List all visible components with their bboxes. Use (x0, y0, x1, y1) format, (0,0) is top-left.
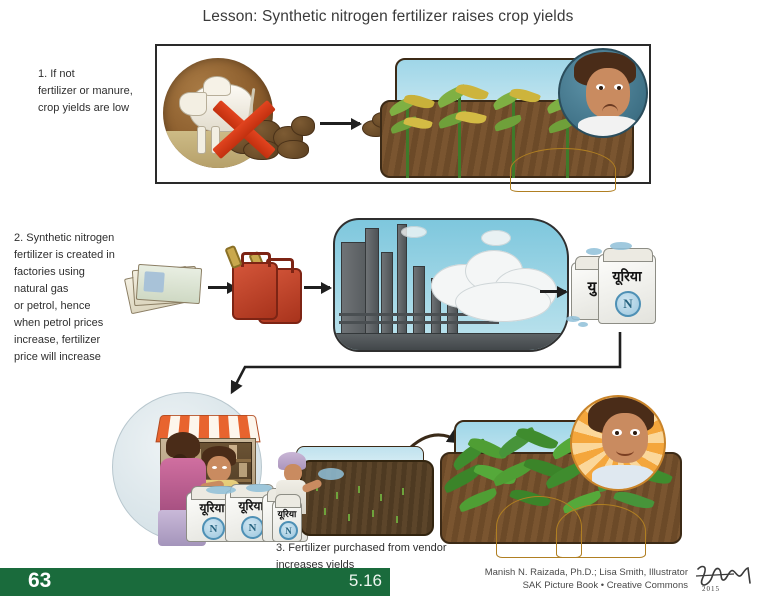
smile-mouth (616, 445, 634, 456)
step-1-line-3: crop yields are low (38, 100, 133, 117)
cow-hump (203, 76, 231, 96)
fertilizer-throw (318, 468, 344, 480)
step-2-line-3: factories using (14, 264, 115, 281)
arrow-right-icon (540, 290, 566, 293)
step-1-caption: 1. If not fertilizer or manure, crop yie… (38, 66, 133, 117)
illustrator-signature: 2015 (694, 563, 764, 597)
banknote-art (143, 271, 164, 292)
shirt (578, 116, 638, 138)
signature-year: 2015 (702, 585, 720, 593)
step-2-caption: 2. Synthetic nitrogen fertilizer is crea… (14, 230, 115, 366)
seedling (336, 492, 338, 499)
face (207, 456, 231, 482)
step-2-line-5: or petrol, hence (14, 298, 115, 315)
arrow-right-icon (304, 286, 330, 289)
banknote (136, 264, 202, 304)
bag-label: यूरिया (599, 267, 655, 286)
seedling (402, 488, 404, 495)
factory-base (335, 333, 567, 350)
nitrogen-logo: N (279, 521, 298, 540)
page-title: Lesson: Synthetic nitrogen fertilizer ra… (0, 8, 776, 26)
can-spout (224, 245, 242, 270)
step-2-line-4: natural gas (14, 281, 115, 298)
step-2-line-1: 2. Synthetic nitrogen (14, 230, 115, 247)
pupil (599, 86, 603, 90)
urea-bag: यूरिया N (272, 500, 302, 542)
lesson-page: Lesson: Synthetic nitrogen fertilizer ra… (0, 0, 776, 600)
cow-leg (197, 126, 206, 154)
page-number: 63 (28, 569, 51, 593)
sky-cloud (401, 226, 427, 238)
fertilizer-spill (566, 316, 580, 322)
sky-cloud (481, 230, 511, 246)
red-x-icon (208, 98, 280, 160)
section-number: 5.16 (300, 571, 382, 591)
sad-farmer-portrait (558, 48, 648, 138)
seedling (324, 508, 326, 515)
corn-stalk (458, 94, 461, 178)
seedling (348, 514, 350, 521)
banknotes (127, 258, 205, 312)
step-2-line-8: price will increase (14, 349, 115, 366)
fertilizer-spill (586, 248, 602, 255)
urea-bag: यूरिया N (598, 254, 656, 324)
corn-stalk (406, 104, 409, 178)
nitrogen-logo: N (615, 291, 641, 317)
manure-lump (291, 116, 315, 136)
shop-jar (239, 463, 247, 477)
happy-farmer-portrait (570, 395, 666, 491)
step-2-line-6: when petrol prices (14, 315, 115, 332)
fertilizer-factory (333, 218, 569, 352)
eye (222, 466, 227, 469)
bag-top (603, 248, 652, 262)
fertilizer-spill (610, 242, 632, 250)
step-2-line-2: fertilizer is created in (14, 247, 115, 264)
seedling (396, 516, 398, 523)
fertilizer-spill (578, 322, 588, 327)
step-1-line-2: fertilizer or manure, (38, 83, 133, 100)
pupil (615, 431, 619, 435)
fuel-can (232, 262, 278, 320)
small-grain-pile (510, 148, 616, 192)
bag-label: यूरिया (273, 507, 301, 520)
fertilizer-spill (246, 484, 272, 492)
seedling (380, 494, 382, 501)
pupil (617, 86, 621, 90)
arrow-right-icon (320, 122, 360, 125)
seedling (372, 510, 374, 517)
step-1-line-1: 1. If not (38, 66, 133, 83)
credits-line-1: Manish N. Raizada, Ph.D.; Lisa Smith, Il… (430, 566, 688, 579)
smokestack (381, 252, 393, 338)
fertilizer-spill (206, 486, 236, 494)
nitrogen-logo: N (241, 516, 264, 539)
manure-lump (277, 140, 309, 159)
bag-top (275, 494, 301, 508)
eye (212, 466, 217, 469)
step-2-line-7: increase, fertilizer (14, 332, 115, 349)
pupil (633, 431, 637, 435)
step-3-line-1: 3. Fertilizer purchased from vendor (276, 540, 447, 557)
cow-head (179, 92, 207, 116)
credits-line-2: SAK Picture Book • Creative Commons (430, 579, 688, 592)
large-grain-pile (556, 504, 646, 558)
factory-pipe (339, 321, 499, 324)
can-handle (241, 252, 271, 267)
smoke-cloud (455, 282, 551, 322)
seedling (358, 486, 360, 493)
nitrogen-logo: N (202, 517, 225, 540)
shirt (592, 465, 654, 489)
credits: Manish N. Raizada, Ph.D.; Lisa Smith, Il… (430, 566, 688, 592)
smokestack (413, 266, 425, 338)
